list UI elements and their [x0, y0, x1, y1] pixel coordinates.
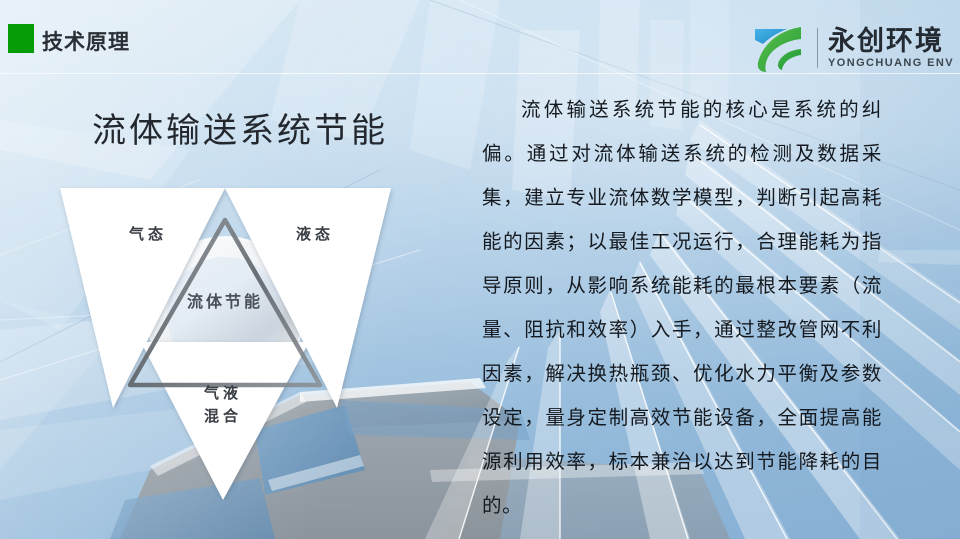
slide-header: 技术原理	[0, 0, 960, 74]
company-logo: 永创环境 YONGCHUANG ENV	[753, 20, 954, 76]
diagram-node-mix-line1: 气液	[173, 382, 273, 405]
diagram-node-gas-label: 气态	[103, 223, 193, 244]
green-square-marker-icon	[8, 24, 34, 53]
fluid-energy-saving-diagram: 气态 液态 气液 混合 流体节能	[55, 180, 395, 500]
logo-name-en: YONGCHUANG ENV	[828, 57, 954, 69]
logo-name-cn: 永创环境	[828, 27, 954, 55]
page-title: 流体输送系统节能	[92, 103, 388, 152]
diagram-node-mix-line2: 混合	[173, 405, 273, 428]
header-section-title: 技术原理	[42, 26, 130, 56]
yongchuang-leaf-logo-icon	[753, 23, 811, 73]
logo-divider	[817, 28, 818, 68]
body-paragraph: 流体输送系统节能的核心是系统的纠偏。通过对流体输送系统的检测及数据采集，建立专业…	[482, 88, 882, 528]
diagram-center-label: 流体节能	[165, 288, 285, 312]
presentation-slide: 技术原理	[0, 0, 960, 539]
diagram-node-liquid-label: 液态	[270, 223, 360, 244]
diagram-node-mix-label: 气液 混合	[173, 382, 273, 429]
logo-wordmark: 永创环境 YONGCHUANG ENV	[828, 27, 954, 68]
